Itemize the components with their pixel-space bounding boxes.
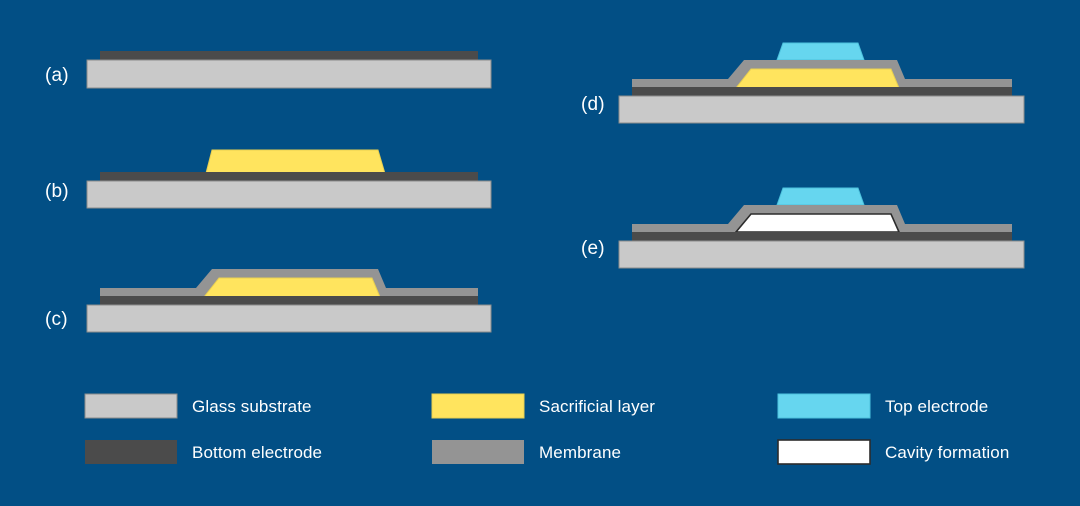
legend-swatch-cavity-formation — [778, 440, 870, 464]
panel-a-glass-substrate — [87, 60, 491, 88]
legend-label-top-electrode: Top electrode — [885, 397, 988, 416]
legend-item-sacrificial-layer: Sacrificial layer — [432, 394, 655, 418]
legend-item-cavity-formation: Cavity formation — [778, 440, 1009, 464]
panel-d-sacrificial-layer — [736, 69, 899, 88]
panel-e-glass-substrate — [619, 241, 1024, 268]
legend-swatch-glass-substrate — [85, 394, 177, 418]
panel-b-glass-substrate — [87, 181, 491, 208]
legend-swatch-sacrificial-layer — [432, 394, 524, 418]
legend-swatch-membrane — [432, 440, 524, 464]
panel-b-label: (b) — [45, 181, 69, 202]
legend-swatch-top-electrode — [778, 394, 870, 418]
legend-swatch-bottom-electrode — [85, 440, 177, 464]
legend-label-membrane: Membrane — [539, 443, 621, 462]
panel-e-top-electrode — [777, 188, 864, 205]
panel-a-label: (a) — [45, 65, 69, 86]
legend-label-glass-substrate: Glass substrate — [192, 397, 312, 416]
fabrication-process-figure: (a) (b) (c) (d) — [0, 0, 1080, 506]
legend-item-glass-substrate: Glass substrate — [85, 394, 312, 418]
panel-c-glass-substrate — [87, 305, 491, 332]
legend-label-cavity-formation: Cavity formation — [885, 443, 1009, 462]
panel-e-label: (e) — [581, 238, 605, 259]
panel-d-label: (d) — [581, 94, 605, 115]
process-flow-diagram: (a) (b) (c) (d) — [0, 0, 1080, 506]
panel-d-top-electrode — [777, 43, 864, 60]
legend-item-bottom-electrode: Bottom electrode — [85, 440, 322, 464]
panel-d-glass-substrate — [619, 96, 1024, 123]
legend-label-bottom-electrode: Bottom electrode — [192, 443, 322, 462]
panel-c-label: (c) — [45, 309, 68, 330]
panel-a: (a) — [45, 51, 491, 88]
legend-label-sacrificial-layer: Sacrificial layer — [539, 397, 655, 416]
panel-c-sacrificial-layer — [204, 278, 380, 297]
panel-e-cavity — [736, 214, 899, 232]
